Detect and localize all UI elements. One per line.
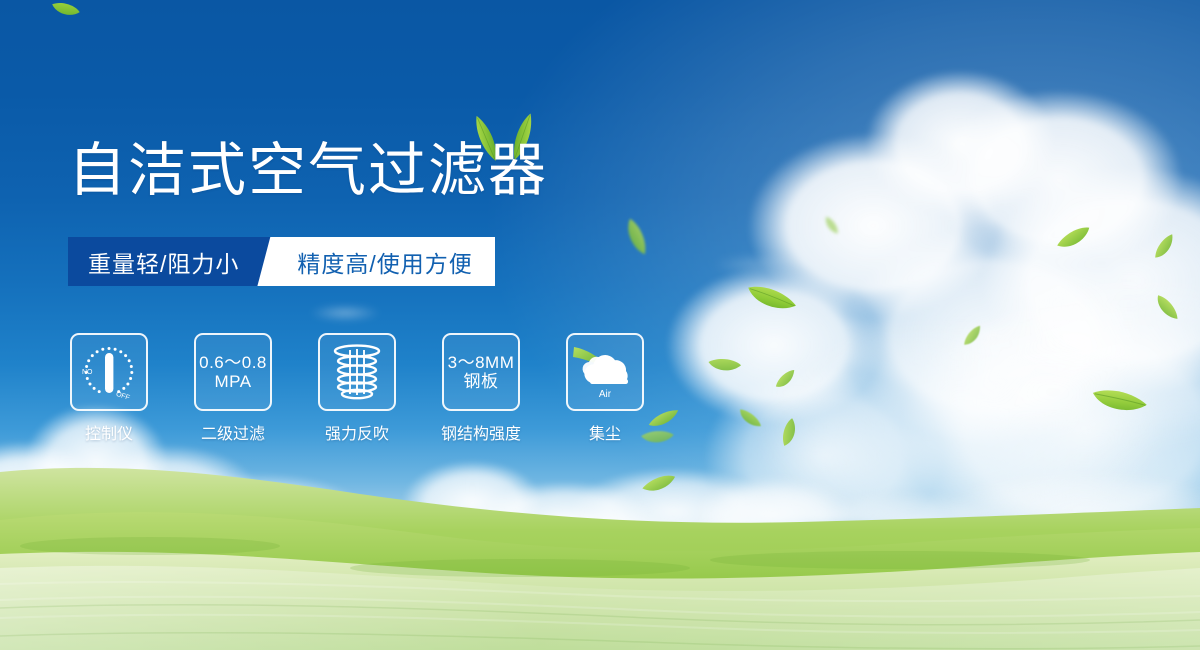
gauge-icon: NO OFF — [70, 333, 148, 411]
svg-text:NO: NO — [82, 369, 93, 376]
feature-item-steel-structure-strength[interactable]: 3〜8MM 钢板 钢结构强度 — [440, 333, 522, 444]
feature-item-control-instrument[interactable]: NO OFF 控制仪 — [68, 333, 150, 444]
cloud-air-icon: Air — [566, 333, 644, 411]
subtitle-right: 精度高/使用方便 — [291, 237, 494, 286]
page-title: 自洁式空气过滤器 — [68, 142, 548, 200]
feature-item-two-stage-filtration[interactable]: 0.6〜0.8 MPA 二级过滤 — [192, 333, 274, 444]
feature-label: 强力反吹 — [325, 420, 389, 444]
subtitle-left: 重量轻/阻力小 — [68, 237, 257, 286]
feature-label: 钢结构强度 — [441, 420, 521, 444]
subtitle-divider-wedge — [257, 237, 291, 286]
cloud-wisp-upper-left — [300, 300, 390, 326]
svg-text:OFF: OFF — [115, 391, 130, 402]
feature-label: 二级过滤 — [201, 420, 265, 444]
feature-label: 集尘 — [589, 420, 621, 444]
pressure-text-icon: 0.6〜0.8 MPA — [194, 333, 272, 411]
steel-line-2: 钢板 — [448, 372, 515, 391]
steel-icon-text: 3〜8MM 钢板 — [448, 353, 515, 391]
feature-list: NO OFF 控制仪 0.6〜0.8 MPA 二级过滤 — [68, 333, 646, 444]
filter-cartridge-icon — [318, 333, 396, 411]
steel-line-1: 3〜8MM — [448, 353, 515, 372]
feature-item-strong-back-blow[interactable]: 强力反吹 — [316, 333, 398, 444]
air-label: Air — [599, 389, 612, 400]
feature-label: 控制仪 — [85, 420, 133, 444]
subtitle-bar: 重量轻/阻力小 精度高/使用方便 — [68, 237, 495, 286]
pressure-icon-text: 0.6〜0.8 MPA — [199, 353, 267, 391]
hero-banner: 自洁式空气过滤器 重量轻/阻力小 精度高/使用方便 — [0, 0, 1200, 650]
steel-text-icon: 3〜8MM 钢板 — [442, 333, 520, 411]
cloud-wisp-upper-mid — [700, 250, 820, 280]
pressure-line-2: MPA — [199, 372, 267, 391]
feature-item-dust-collection[interactable]: Air 集尘 — [564, 333, 646, 444]
grass-meadow — [0, 450, 1200, 650]
pressure-line-1: 0.6〜0.8 — [199, 353, 267, 372]
